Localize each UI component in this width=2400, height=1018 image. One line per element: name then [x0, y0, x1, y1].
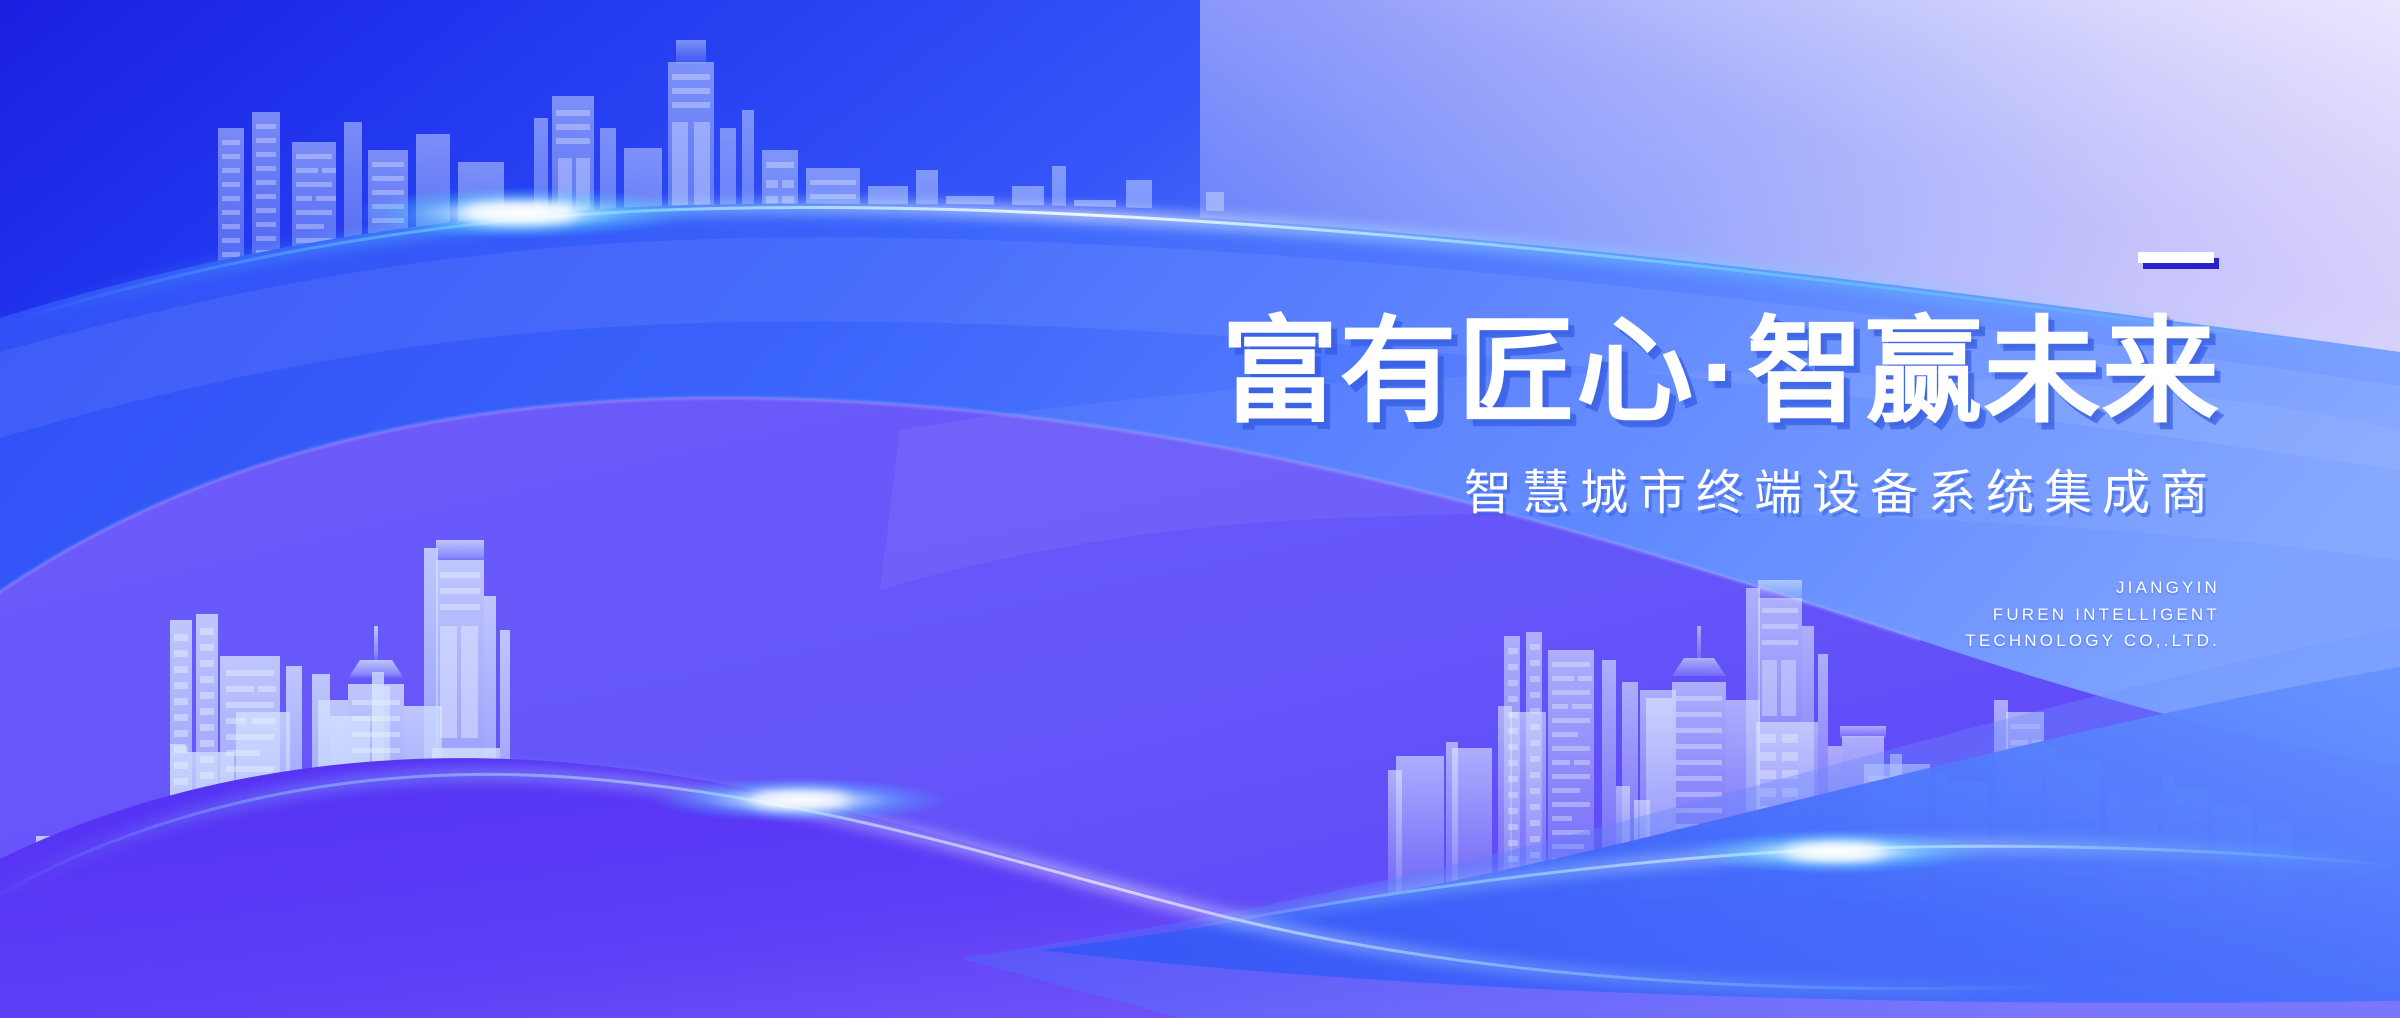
- headline-block: 富有匠心·智赢未来 智慧城市终端设备系统集成商 JIANGYIN FUREN I…: [1040, 250, 2220, 654]
- page-subtitle: 智慧城市终端设备系统集成商: [1040, 453, 2220, 523]
- company-line-2: FUREN INTELLIGENT: [1040, 602, 2220, 628]
- page-title: 富有匠心·智赢未来: [1016, 314, 2220, 431]
- accent-dash-icon: [2138, 252, 2214, 263]
- title-left: 富有匠心: [1221, 308, 1694, 436]
- company-line-1: JIANGYIN: [1040, 575, 2220, 601]
- company-line-3: TECHNOLOGY CO,.LTD.: [1040, 628, 2220, 654]
- title-separator-dot: ·: [1694, 308, 1746, 436]
- banner-canvas: 富有匠心·智赢未来 智慧城市终端设备系统集成商 JIANGYIN FUREN I…: [0, 0, 2400, 1018]
- company-name-en: JIANGYIN FUREN INTELLIGENT TECHNOLOGY CO…: [1040, 575, 2220, 654]
- title-right: 智赢未来: [1747, 308, 2220, 436]
